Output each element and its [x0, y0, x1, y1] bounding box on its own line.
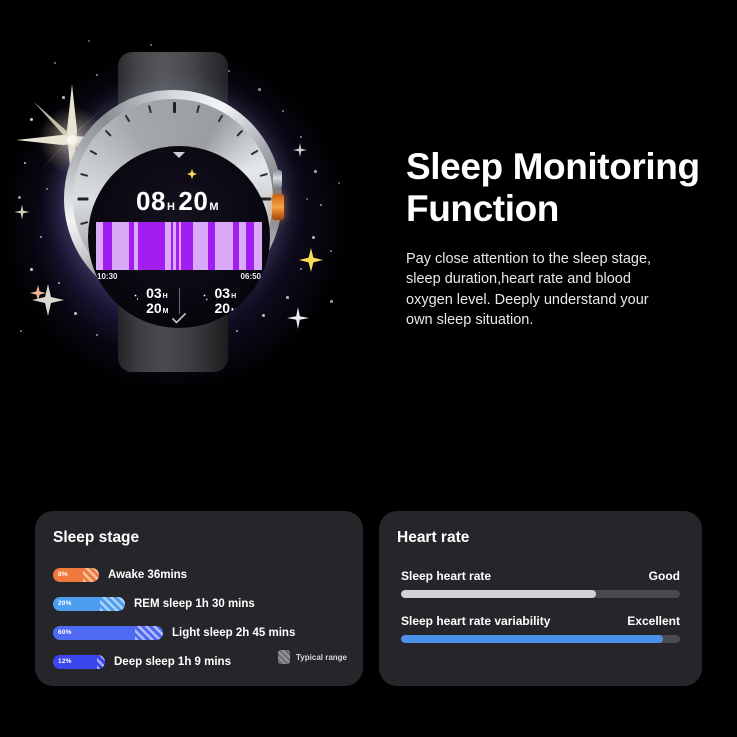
stat-minutes: 20 [215, 300, 231, 316]
bezel-tick [78, 198, 89, 201]
star-dot [88, 40, 90, 42]
heart-rate-fill [401, 635, 663, 643]
smartwatch: 08H20M 10:30 06:50 03H [58, 52, 288, 372]
heart-rate-row-header: Sleep heart rate variabilityExcellent [401, 614, 680, 628]
star-dot [338, 182, 340, 184]
bezel-tick [89, 150, 97, 156]
hypnogram-segment [239, 222, 246, 270]
four-point-star-icon [293, 143, 307, 157]
typical-range-label: Typical range [296, 653, 347, 662]
sleep-hypnogram-chart [96, 222, 262, 270]
chevron-up-icon[interactable] [173, 152, 185, 158]
sleep-stage-percent: 60% [53, 629, 72, 636]
sleep-stage-percent: 12% [53, 658, 72, 665]
heart-rate-label: Sleep heart rate [401, 569, 491, 583]
headline-line-1: Sleep Monitoring [406, 146, 737, 188]
sleep-stage-bar: 8% [53, 568, 99, 582]
four-point-star-icon [287, 307, 309, 329]
bezel-tick [105, 130, 112, 137]
four-point-star-icon [30, 285, 46, 301]
four-point-star-icon [299, 248, 323, 272]
hypnogram-end-time: 06:50 [241, 272, 261, 281]
sleep-stage-bar-fill: 60% [53, 626, 135, 640]
watch-stat-1: 03H 20M [111, 286, 178, 315]
hypnogram-start-time: 10:30 [97, 272, 117, 281]
sleep-stage-percent: 20% [53, 600, 72, 607]
sleep-stage-bar-fill: 12% [53, 655, 97, 669]
hypnogram-segment [112, 222, 129, 270]
watch-stat-2-value: 03H 20M [215, 286, 237, 315]
sleep-stage-label: Deep sleep 1h 9 mins [114, 656, 231, 668]
stat-hours-unit: H [163, 293, 168, 300]
bezel-tick [80, 173, 88, 177]
sleep-stage-label: REM sleep 1h 30 mins [134, 598, 255, 610]
bezel-tick [148, 105, 152, 113]
star-dot [20, 330, 22, 332]
sleep-stage-typical-range [135, 626, 163, 640]
sleep-stage-bar: 60% [53, 626, 163, 640]
watch-stat-2: 03H 20M [180, 286, 247, 315]
hero-section: 08H20M 10:30 06:50 03H [0, 0, 737, 500]
watch-screen[interactable]: 08H20M 10:30 06:50 03H [88, 146, 270, 328]
crescent-moon-stars-icon [190, 291, 210, 311]
bezel-tick [260, 173, 268, 177]
star-dot [54, 62, 56, 64]
star-dot [306, 198, 308, 200]
hypnogram-segment [138, 222, 165, 270]
total-sleep-minutes: 20 [178, 186, 208, 216]
stat-hours: 03 [215, 285, 231, 301]
star-dot [314, 170, 317, 173]
hypnogram-segment [103, 222, 112, 270]
typical-range-legend: Typical range [278, 650, 347, 664]
hypnogram-segment [193, 222, 208, 270]
description-text: Pay close attention to the sleep stage, … [406, 249, 678, 331]
heart-rate-title: Heart rate [397, 529, 469, 547]
star-dot [330, 300, 333, 303]
sleep-stage-typical-range [97, 655, 105, 669]
sleep-stage-bar: 12% [53, 655, 105, 669]
hypnogram-segment [208, 222, 215, 270]
sleep-stage-bar: 20% [53, 597, 125, 611]
watch-case: 08H20M 10:30 06:50 03H [64, 90, 282, 308]
sleep-stage-label: Awake 36mins [108, 569, 187, 581]
stat-hours: 03 [146, 285, 162, 301]
bezel-tick [236, 130, 243, 137]
stat-minutes-unit: M [231, 308, 237, 315]
crescent-moon-icon [121, 291, 141, 311]
bezel-tick [196, 105, 200, 113]
sleep-stage-typical-range [83, 568, 99, 582]
hypnogram-segment [254, 222, 261, 270]
copy-block: Sleep Monitoring Function Pay close atte… [406, 146, 737, 331]
heart-rate-row: Sleep heart rateGood [401, 569, 680, 598]
total-sleep-time: 08H20M [88, 188, 270, 214]
sleep-stage-row: 8%Awake 36mins [53, 567, 187, 582]
hypnogram-time-axis: 10:30 06:50 [97, 272, 261, 281]
bezel-tick [218, 114, 224, 122]
sleep-stage-panel: Sleep stage 8%Awake 36mins20%REM sleep 1… [35, 511, 363, 686]
heart-rate-row-header: Sleep heart rateGood [401, 569, 680, 583]
sleep-stage-percent: 8% [53, 571, 68, 578]
heart-rate-label: Sleep heart rate variability [401, 614, 550, 628]
stat-minutes-unit: M [163, 308, 169, 315]
hypnogram-segment [215, 222, 233, 270]
heart-rate-track [401, 590, 680, 598]
hatched-swatch-icon [278, 650, 290, 664]
heart-rate-rating: Excellent [627, 614, 680, 628]
heart-rate-rating: Good [649, 569, 680, 583]
sleep-stage-row: 60%Light sleep 2h 45 mins [53, 625, 295, 640]
heart-rate-track [401, 635, 680, 643]
hypnogram-segment [246, 222, 254, 270]
sleep-stage-typical-range [100, 597, 125, 611]
sleep-stage-row: 12%Deep sleep 1h 9 mins [53, 654, 231, 669]
bezel-tick [80, 221, 88, 225]
four-point-star-icon [15, 205, 30, 220]
stat-hours-unit: H [231, 293, 236, 300]
watch-stat-1-value: 03H 20M [146, 286, 168, 315]
watch-side-button[interactable] [273, 170, 282, 188]
heart-rate-row: Sleep heart rate variabilityExcellent [401, 614, 680, 643]
bezel-tick [125, 114, 131, 122]
total-sleep-hours: 08 [136, 186, 166, 216]
hours-unit: H [167, 201, 175, 213]
hypnogram-segment [181, 222, 193, 270]
sleep-stage-title: Sleep stage [53, 529, 139, 547]
watch-crown-button[interactable] [272, 194, 284, 220]
sleep-stage-bar-fill: 20% [53, 597, 100, 611]
star-dot [312, 236, 315, 239]
hypnogram-segment [233, 222, 240, 270]
minutes-unit: M [209, 201, 219, 213]
heart-rate-fill [401, 590, 596, 598]
bezel-tick [173, 102, 176, 113]
sleep-stage-label: Light sleep 2h 45 mins [172, 627, 295, 639]
headline-line-2: Function [406, 188, 737, 230]
stat-minutes: 20 [146, 300, 162, 316]
sleep-stage-bar-fill: 8% [53, 568, 83, 582]
bezel-tick [251, 150, 259, 156]
star-dot [150, 44, 152, 46]
heart-rate-panel: Heart rate Sleep heart rateGoodSleep hea… [379, 511, 702, 686]
sleep-stage-row: 20%REM sleep 1h 30 mins [53, 596, 255, 611]
hypnogram-segment [96, 222, 103, 270]
